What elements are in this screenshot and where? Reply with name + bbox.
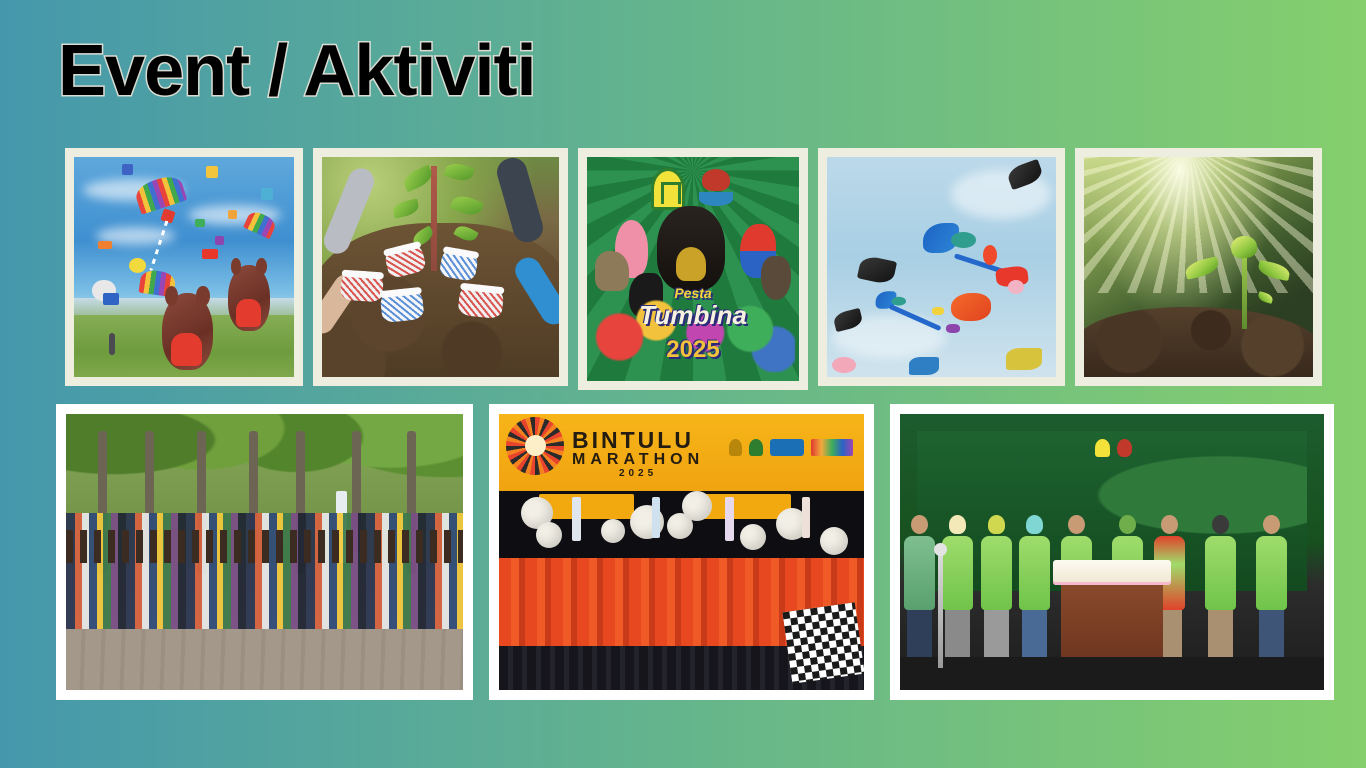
photo-frame-community-run-group-photo[interactable] [56, 404, 473, 700]
photo-bintulu-marathon: BINTULU MARATHON 2025 [499, 414, 864, 690]
photo-cake-cutting-ceremony [900, 414, 1324, 690]
poster-title-pesta: Pesta [587, 285, 799, 301]
poster-title-year: 2025 [587, 336, 799, 364]
photo-community-run-group-photo [66, 414, 463, 690]
photo-frame-bintulu-marathon[interactable]: BINTULU MARATHON 2025 [489, 404, 874, 700]
gallery-row-bottom: BINTULU MARATHON 2025 [56, 404, 1334, 700]
marathon-title-line2: MARATHON [572, 452, 704, 469]
photo-pesta-tumbina-poster: Pesta Tumbina 2025 [587, 157, 799, 381]
ceremonial-cake [1053, 560, 1172, 585]
photo-frame-cake-cutting-ceremony[interactable] [890, 404, 1334, 700]
marathon-title-line3: 2025 [572, 469, 704, 480]
marathon-banner-title: BINTULU MARATHON 2025 [572, 428, 704, 479]
sarawak-wordmark-icon [811, 439, 853, 456]
backdrop-logos [1095, 439, 1132, 457]
sarawak-crest-icon [729, 439, 742, 456]
photo-frame-kite-festival-field[interactable] [65, 148, 303, 386]
department-emblem-icon [697, 168, 735, 210]
checkered-flag [783, 602, 864, 683]
marathon-title-line1: BINTULU [572, 428, 704, 452]
photo-frame-pesta-tumbina-poster[interactable]: Pesta Tumbina 2025 [578, 148, 808, 390]
photo-tree-planting-gloves [322, 157, 559, 377]
department-emblem-icon [1117, 439, 1132, 457]
photo-frame-tree-planting-gloves[interactable] [313, 148, 568, 386]
stanchion-pole [938, 552, 943, 668]
council-crest-icon [1095, 439, 1110, 457]
photo-frame-seedling-sunlight[interactable] [1075, 148, 1322, 386]
photo-frame-kites-in-sky[interactable] [818, 148, 1065, 386]
marathon-sponsor-logos [729, 439, 853, 456]
photo-kite-festival-field [74, 157, 294, 377]
council-logo-icon [749, 439, 763, 456]
poster-title-tumbina: Tumbina [587, 300, 799, 331]
poster-logos [587, 168, 799, 210]
council-crest-icon [651, 168, 685, 210]
marathon-sunburst-logo-icon [506, 417, 564, 475]
photo-seedling-sunlight [1084, 157, 1313, 377]
gallery-row-top: Pesta Tumbina 2025 [65, 148, 1322, 390]
photo-kites-in-sky [827, 157, 1056, 377]
bintulu-port-logo-icon [770, 439, 804, 456]
page-title: Event / Aktiviti [58, 34, 535, 110]
